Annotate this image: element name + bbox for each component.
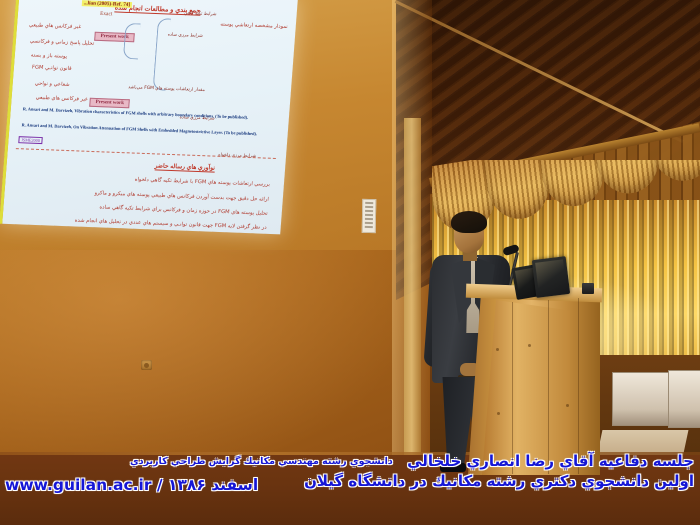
podium-seam [548, 300, 549, 474]
speaker-hair [451, 211, 487, 233]
photo-scene: جمع بندي و مطالعات انجام شده ...lian (20… [0, 0, 700, 525]
laptop-screen [535, 259, 567, 294]
podium-screw [566, 404, 569, 407]
radiator-panel [668, 370, 700, 428]
slide-fa-mid-line: مقدار ارتعاشات پوسته هاي FGM مي‌باشد [128, 85, 205, 93]
laptop-primary[interactable] [532, 256, 570, 298]
valance-scallop [591, 160, 663, 198]
podium-seam [512, 302, 513, 474]
projected-slide: جمع بندي و مطالعات انجام شده ...lian (20… [0, 0, 298, 234]
slide-row-text: نمودار مشخصه ارتعاشي پوسته [220, 21, 288, 30]
wall-socket-icon [141, 360, 152, 370]
device-box [582, 283, 594, 294]
speaker-shoe [440, 463, 466, 472]
podium-screw [496, 348, 499, 351]
radiator-panel [612, 372, 670, 426]
wall-notice-paper [362, 199, 377, 233]
slide-brace [123, 23, 141, 60]
slide-row-text: شرايط تكيه گاهي [184, 11, 217, 17]
socket-hole [144, 363, 149, 368]
podium-seam [578, 298, 579, 474]
podium-front-panel [482, 300, 570, 475]
slide-label-exact: Exact [100, 11, 113, 17]
slide-conference-tag: ISME2008 [18, 136, 43, 144]
slide-row-text: شرايط مرزي ساده [167, 33, 202, 39]
podium-screw [528, 344, 531, 347]
podium-screw [497, 412, 500, 415]
slide-reference-item: R. Ansari and M. Darvizeh, On Vibration … [21, 122, 257, 136]
